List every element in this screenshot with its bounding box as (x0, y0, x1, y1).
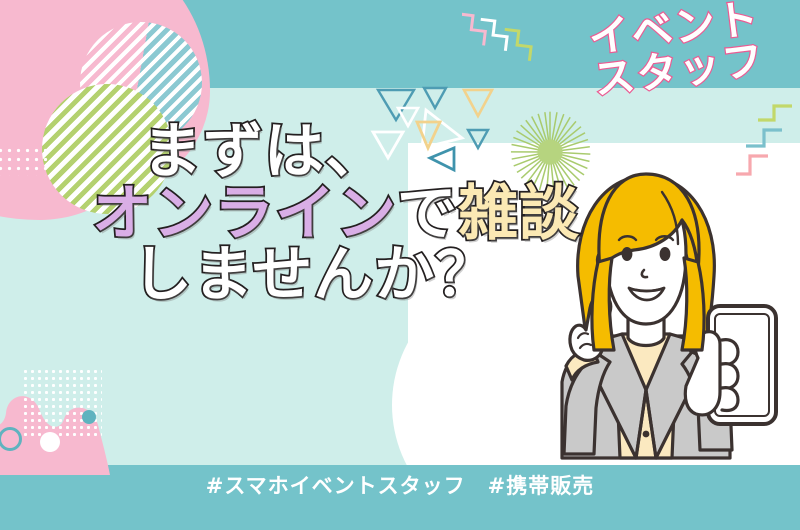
zigzag-lines-top (462, 0, 552, 80)
headline-seg-zatsudan: 雑談 (458, 179, 580, 249)
headline-line-3: しませんか？ (132, 247, 476, 305)
headline: まずは、 オンラインで雑談 しませんか？ (96, 124, 476, 305)
teal-dot (82, 410, 96, 424)
headline-seg-1: まずは、 (142, 117, 386, 187)
headline-seg-online: オンライン (92, 179, 397, 249)
headline-line-1: まずは、 (142, 124, 476, 182)
white-dot (40, 432, 60, 452)
hashtag-row: #スマホイベントスタッフ #携帯販売 (0, 470, 800, 500)
headline-seg-3: しませんか？ (132, 240, 496, 310)
dot-grid-top-left (0, 146, 48, 176)
headline-line-2: オンラインで雑談 (92, 186, 476, 244)
headline-seg-de: で (397, 179, 458, 249)
recruitment-banner: イベント スタッフ まずは、 オンラインで雑談 しませんか？ #スマホイベントス… (0, 0, 800, 530)
dot-grid-splash (22, 368, 102, 436)
